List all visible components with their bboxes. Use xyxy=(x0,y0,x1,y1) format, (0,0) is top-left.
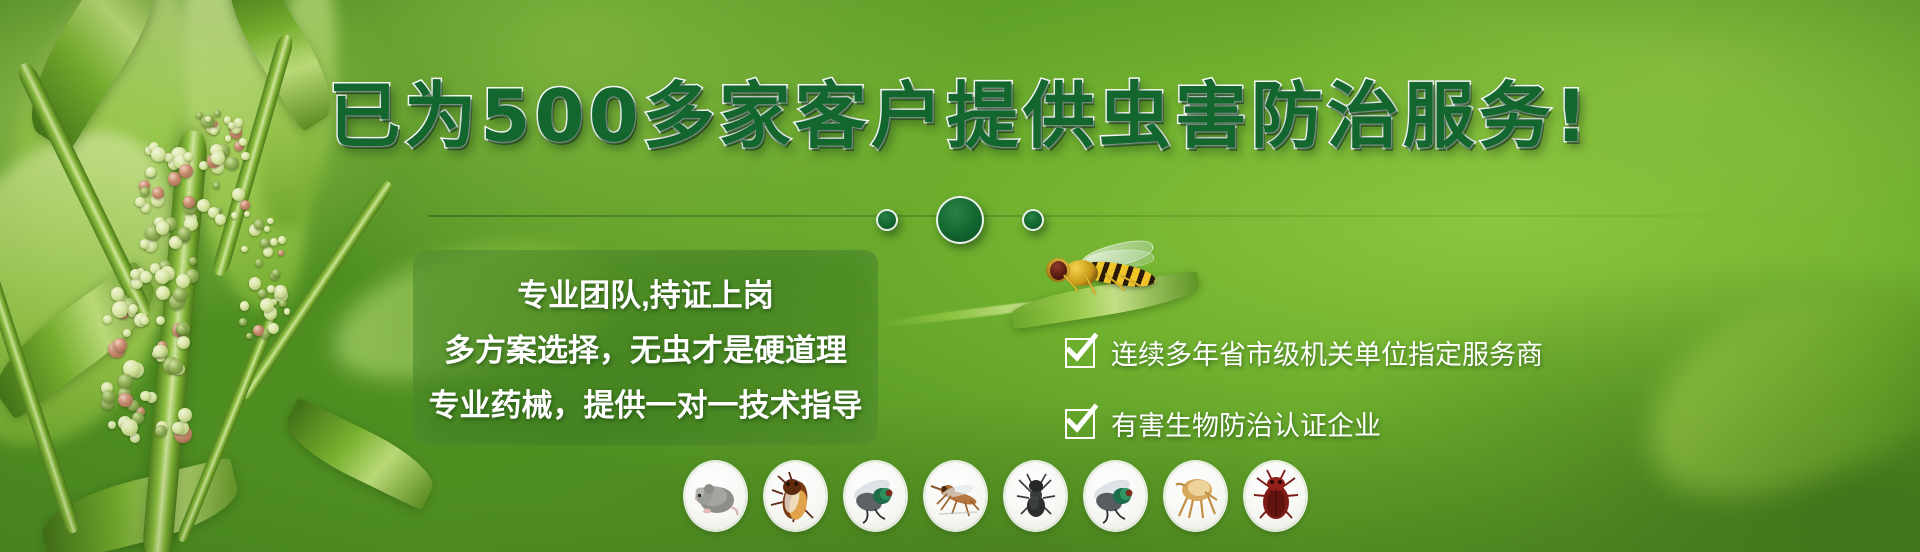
feature-line-2: 多方案选择，无虫才是硬道理 xyxy=(444,325,847,370)
plant-bud xyxy=(103,315,112,324)
pest-icon-strip xyxy=(685,462,1306,530)
mosquito-icon xyxy=(925,462,986,530)
plant-bud xyxy=(239,318,247,326)
list-item-label: 有害生物防治认证企业 xyxy=(1111,404,1381,443)
plant-bud xyxy=(140,316,149,325)
plant-bud xyxy=(102,390,115,403)
features-panel-text: 专业团队,持证上岗 多方案选择，无虫才是硬道理 专业药械，提供一对一技术指导 xyxy=(413,250,878,445)
plant-bud xyxy=(111,287,125,301)
list-item: 有害生物防治认证企业 xyxy=(1065,404,1543,443)
plant-bud xyxy=(272,269,280,277)
plant-bud xyxy=(255,259,263,267)
plant-bud xyxy=(123,329,131,337)
plant-bud xyxy=(241,246,248,253)
plant-bud xyxy=(268,323,279,334)
plant-bud xyxy=(177,336,190,349)
plant-bud xyxy=(263,247,273,257)
plant-bud xyxy=(172,422,184,434)
feature-line-1: 专业团队,持证上岗 xyxy=(517,270,774,315)
small-dot-icon xyxy=(876,209,898,231)
page-title: 已为500多家客户提供虫害防治服务! xyxy=(0,80,1920,152)
small-dot-icon xyxy=(1022,209,1044,231)
page-title-text: 已为500多家客户提供虫害防治服务! xyxy=(328,80,1591,152)
plant-bud xyxy=(146,167,155,176)
plant-bud xyxy=(153,345,166,358)
check-mark-icon xyxy=(1065,338,1095,368)
plant-bud xyxy=(274,285,287,298)
plant-bud xyxy=(241,152,249,160)
list-item-label: 连续多年省市级机关单位指定服务商 xyxy=(1111,333,1543,372)
blowfly-icon xyxy=(1085,462,1146,530)
ant-icon xyxy=(1005,462,1066,530)
fly-legs xyxy=(1058,278,1136,304)
plant-bud xyxy=(284,308,291,315)
plant-bud xyxy=(108,421,116,429)
plant-bud xyxy=(113,338,127,352)
plant-bud xyxy=(177,324,188,335)
plant-bud xyxy=(267,285,274,292)
pest-control-hero-banner: 已为500多家客户提供虫害防治服务! 专业团队,持证上岗 多方案选择，无虫才是硬… xyxy=(0,0,1920,552)
large-dot-icon xyxy=(936,196,984,244)
mouse-icon xyxy=(685,462,746,530)
hoverfly-icon xyxy=(1040,248,1160,308)
plant-bud xyxy=(249,277,261,289)
plant-bud xyxy=(156,286,170,300)
plant-bud xyxy=(278,250,285,257)
plant-bud xyxy=(112,301,128,317)
list-item: 连续多年省市级机关单位指定服务商 xyxy=(1065,333,1543,372)
plant-bud xyxy=(118,374,132,388)
plant-bud xyxy=(156,316,165,325)
plant-bud xyxy=(189,257,197,265)
decorative-dots xyxy=(0,196,1920,244)
fly-icon xyxy=(845,462,906,530)
credentials-checklist: 连续多年省市级机关单位指定服务商 有害生物防治认证企业 xyxy=(1065,333,1543,443)
flea-icon xyxy=(1165,462,1226,530)
feature-line-3: 专业药械，提供一对一技术指导 xyxy=(429,380,863,425)
plant-bud xyxy=(168,359,182,373)
bedbug-icon xyxy=(1245,462,1306,530)
plant-bud xyxy=(184,152,193,161)
plant-bud-cluster xyxy=(100,280,195,450)
plant-bud xyxy=(130,269,140,279)
check-mark-icon xyxy=(1065,409,1095,439)
plant-bud xyxy=(225,157,239,171)
plant-bud xyxy=(173,288,186,301)
plant-bud xyxy=(155,425,167,437)
plant-bud xyxy=(213,182,221,190)
plant-bud xyxy=(246,333,252,339)
plant-bud xyxy=(128,304,138,314)
plant-bud xyxy=(178,408,191,421)
plant-bud xyxy=(253,325,264,336)
plant-bud xyxy=(258,289,267,298)
plant-bud xyxy=(279,300,287,308)
plant-bud xyxy=(118,393,132,407)
plant-bud xyxy=(240,301,249,310)
plant-bud xyxy=(179,164,193,178)
cockroach-icon xyxy=(765,462,826,530)
